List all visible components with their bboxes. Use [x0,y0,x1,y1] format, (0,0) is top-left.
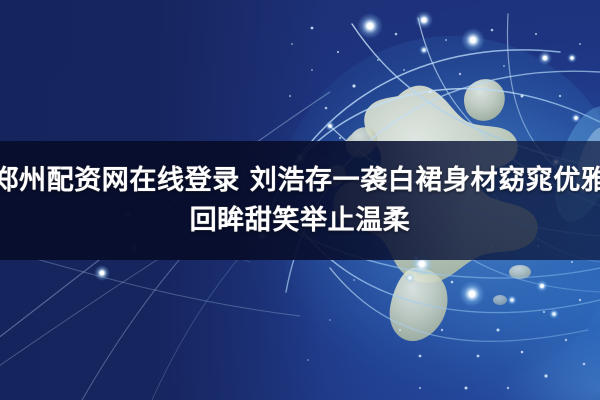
caption-line-2: 回眸甜笑举止温柔 [190,201,411,241]
caption-text-block: 郑州配资网在线登录 刘浩存一袭白裙身材窈窕优雅 回眸甜笑举止温柔 [0,141,600,260]
banner-image: 郑州配资网在线登录 刘浩存一袭白裙身材窈窕优雅 回眸甜笑举止温柔 [0,0,600,400]
caption-line-1: 郑州配资网在线登录 刘浩存一袭白裙身材窈窕优雅 [0,161,600,201]
